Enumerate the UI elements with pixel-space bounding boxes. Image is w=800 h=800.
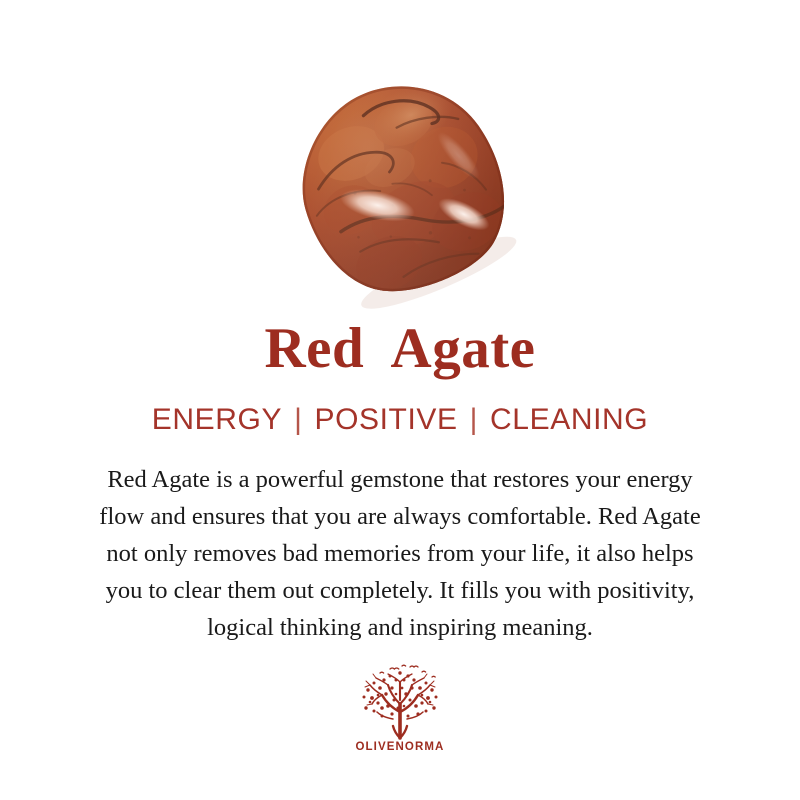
gemstone-image (299, 84, 507, 293)
product-description: Red Agate is a powerful gemstone that re… (20, 461, 780, 646)
gemstone-image-area (0, 0, 800, 320)
description-line: flow and ensures that you are always com… (20, 498, 780, 535)
keyword-cleaning: CLEANING (490, 405, 648, 435)
description-line: Red Agate is a powerful gemstone that re… (20, 461, 780, 498)
page-title: Red Agate (265, 320, 536, 377)
keyword-separator: | (282, 405, 314, 435)
description-line: not only removes bad memories from your … (20, 535, 780, 572)
brand-name: OLIVENORMA (356, 741, 445, 753)
keyword-list: ENERGY | POSITIVE | CLEANING (152, 405, 648, 435)
olive-tree-logo-icon (352, 664, 448, 740)
description-line: logical thinking and inspiring meaning. (20, 609, 780, 646)
keyword-energy: ENERGY (152, 405, 282, 435)
brand-logo: OLIVENORMA (342, 664, 458, 753)
gemstone-shape (266, 52, 539, 326)
product-info-card: Red Agate ENERGY | POSITIVE | CLEANING R… (0, 0, 800, 800)
keyword-positive: POSITIVE (314, 405, 457, 435)
keyword-separator: | (458, 405, 490, 435)
description-line: you to clear them out completely. It fil… (20, 572, 780, 609)
